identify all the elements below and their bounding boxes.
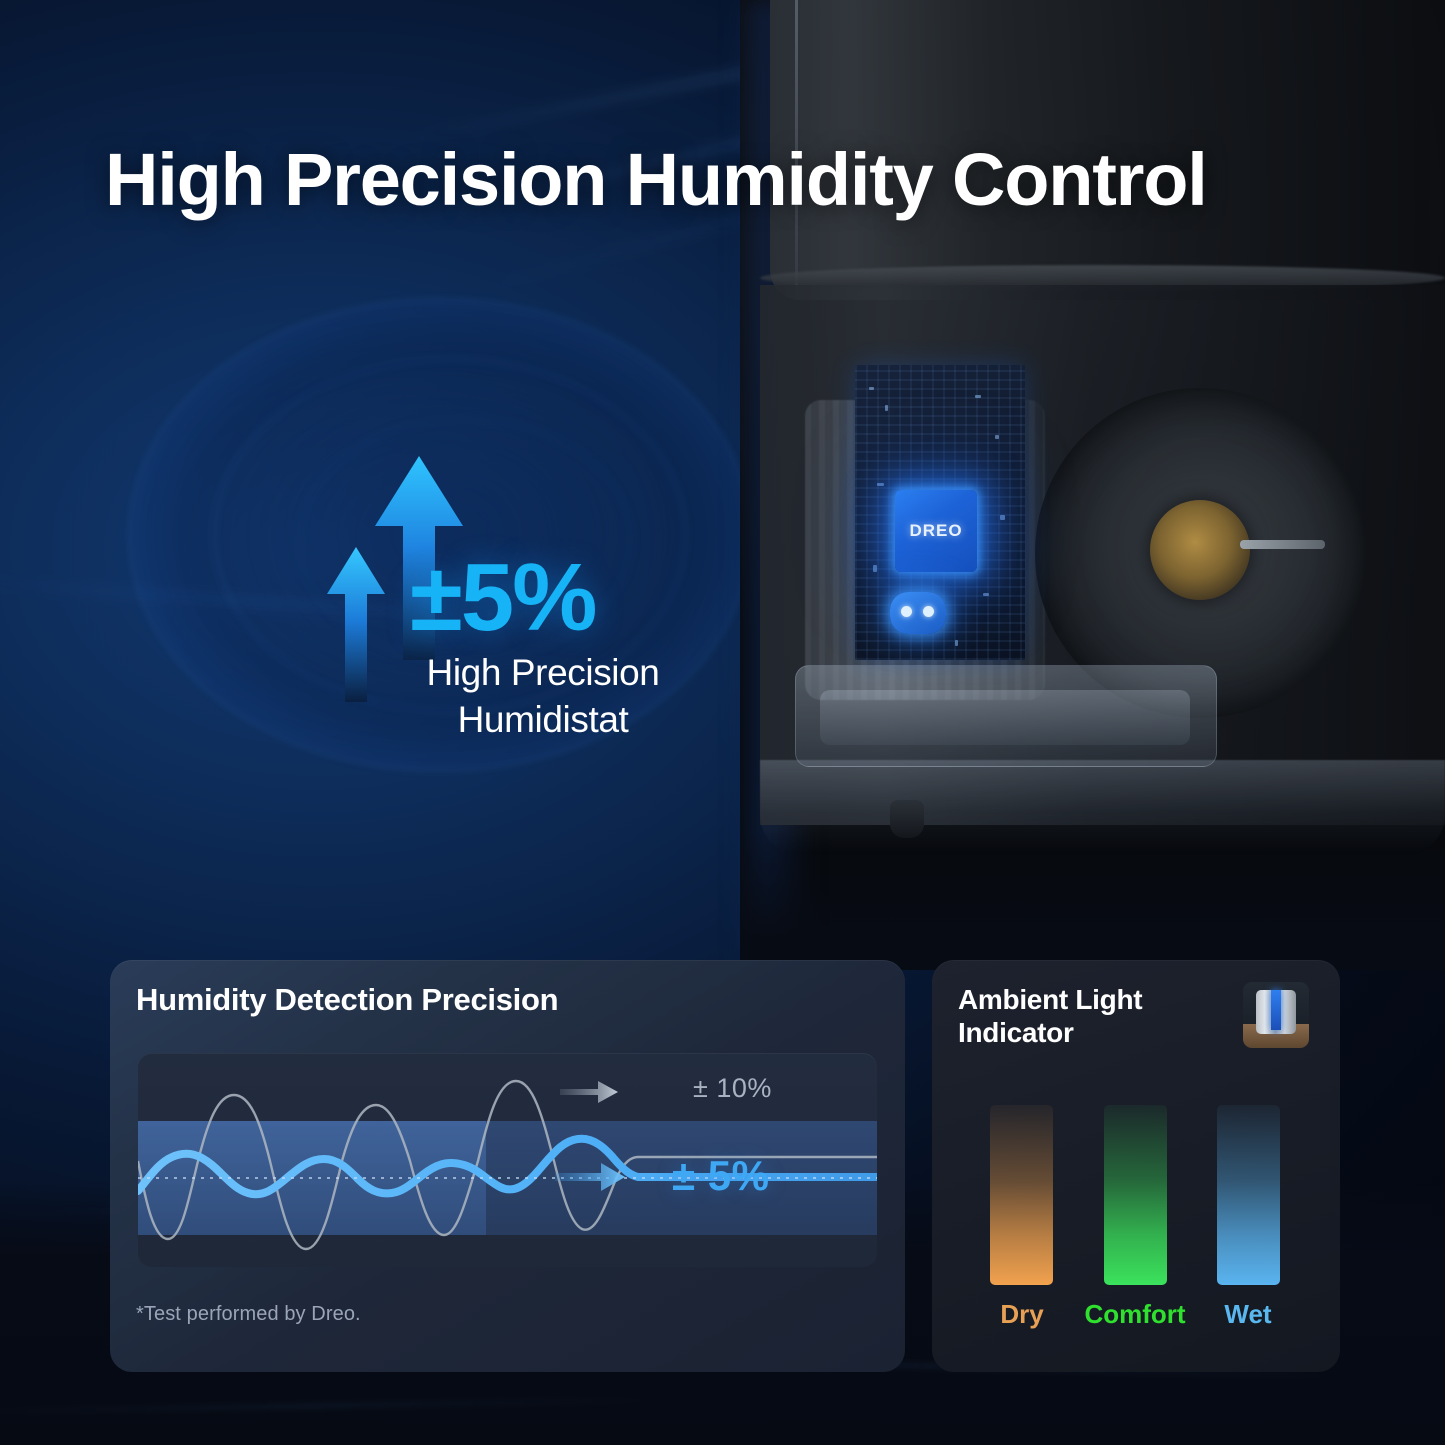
humidity-sensor <box>890 592 946 634</box>
ambient-light-title-line2: Indicator <box>958 1017 1074 1048</box>
ambient-bar-dry <box>990 1105 1053 1285</box>
ambient-bar-wet <box>1217 1105 1280 1285</box>
dreo-chip: DREO <box>895 490 977 572</box>
ambient-bar-label-dry: Dry <box>962 1299 1082 1330</box>
ambient-light-title-line1: Ambient Light <box>958 984 1142 1015</box>
dreo-chip-label: DREO <box>895 490 977 572</box>
precision-stat-caption: High Precision Humidistat <box>393 650 693 743</box>
ambient-light-card-title: Ambient Light Indicator <box>958 984 1168 1050</box>
precision-stat-block: ±5% High Precision Humidistat <box>325 452 695 752</box>
page-title: High Precision Humidity Control <box>105 140 1365 220</box>
precision-card-footnote: *Test performed by Dreo. <box>136 1303 361 1326</box>
product-marketing-image: DREO High Precision Humidity Control <box>0 0 1445 1445</box>
ambient-bar-comfort <box>1104 1105 1167 1285</box>
precision-stat-caption-line1: High Precision <box>427 652 660 693</box>
arrow-up-icon <box>325 544 387 704</box>
arrow-right-icon <box>555 1160 627 1199</box>
ambient-bar-label-wet: Wet <box>1188 1299 1308 1330</box>
thumbnail-light-strip <box>1271 990 1281 1030</box>
tolerance-label-5: ± 5% <box>672 1152 769 1200</box>
tolerance-label-10: ± 10% <box>693 1073 772 1104</box>
humidifier-product-thumbnail <box>1243 982 1309 1048</box>
ambient-bar-label-comfort: Comfort <box>1075 1299 1195 1330</box>
humidity-precision-card-title: Humidity Detection Precision <box>136 982 558 1018</box>
precision-stat-value: ±5% <box>410 550 595 646</box>
precision-stat-caption-line2: Humidistat <box>458 699 629 740</box>
arrow-right-icon <box>560 1078 620 1111</box>
